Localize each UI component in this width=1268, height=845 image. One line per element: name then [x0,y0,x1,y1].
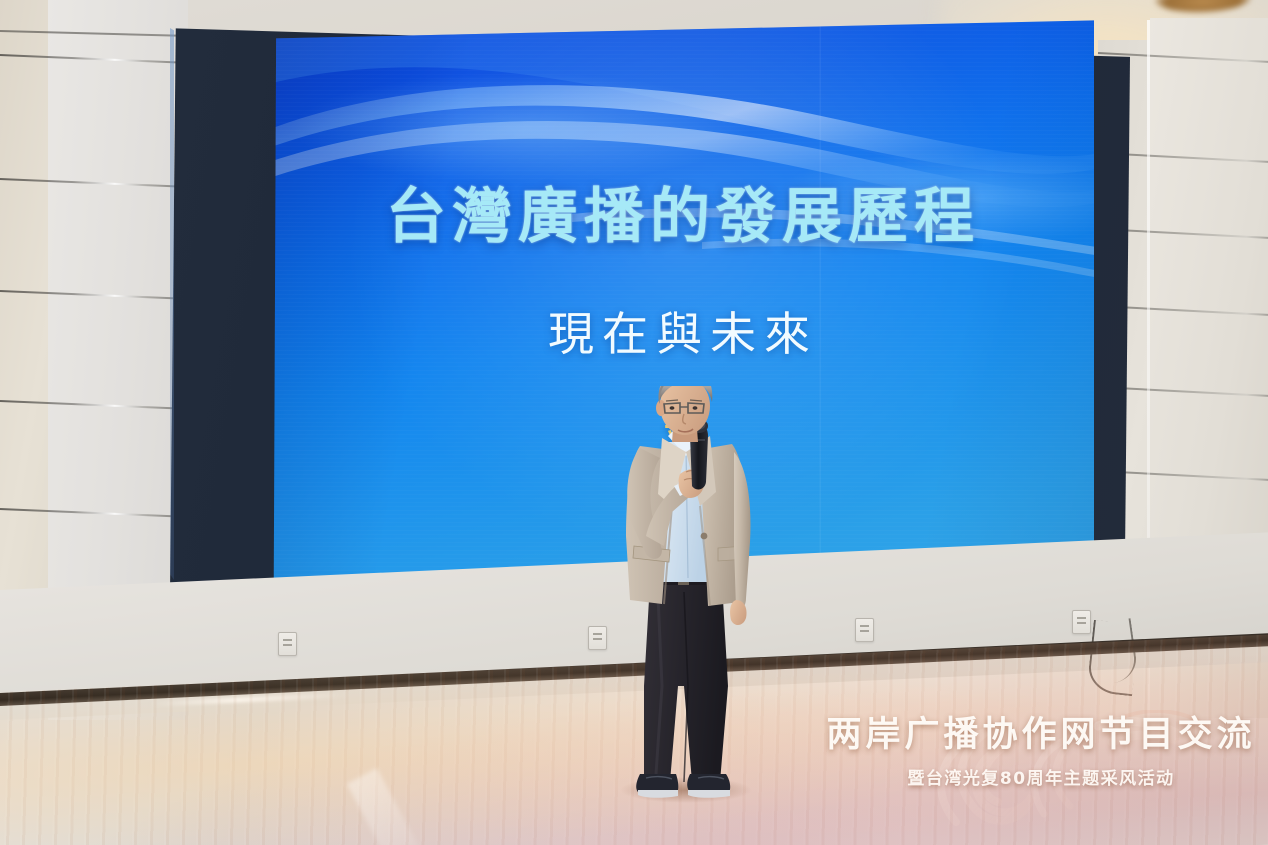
speaker-figure [600,386,790,806]
led-screen-bezel-highlight [170,16,174,616]
wall-outlet [855,618,874,642]
wall-outlet [1072,610,1091,634]
wall-outlet [278,632,297,656]
slide-subtitle: 現在與未來 [272,298,1094,364]
screenshot-root: 台灣廣播的發展歷程 現在與未來 平 [0,0,1268,845]
slide-title: 台灣廣播的發展歷程 [272,168,1094,255]
